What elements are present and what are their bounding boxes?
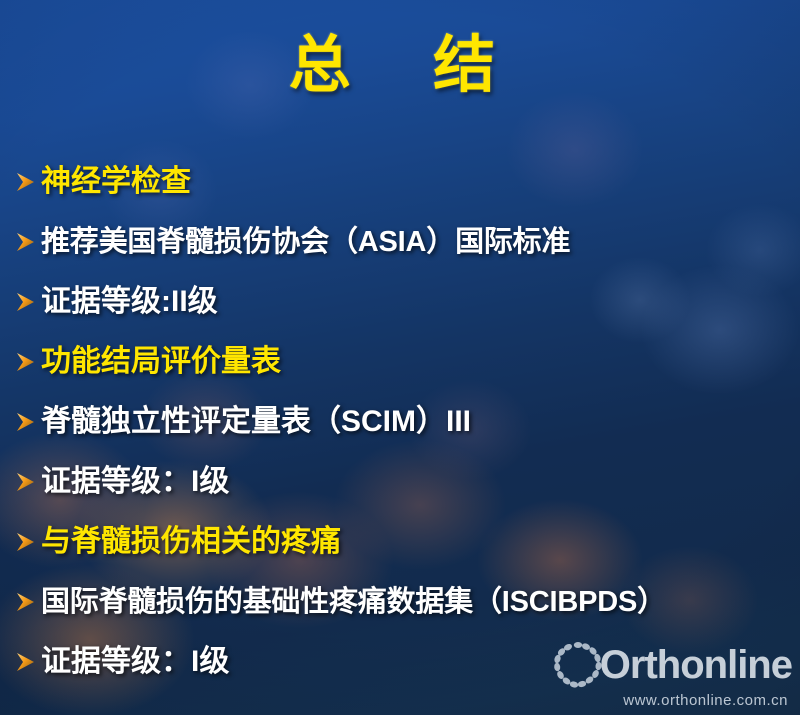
chevron-arrow-bullet-icon (14, 410, 38, 434)
presentation-slide: 总 结 神经学检查 (0, 0, 800, 715)
orthonline-ring-icon (552, 639, 604, 691)
list-item-label: 推荐美国脊髓损伤协会（ASIA）国际标准 (41, 228, 570, 257)
list-item: 证据等级：I级 (0, 452, 800, 512)
summary-bullet-list: 神经学检查 推荐美国脊髓损伤协会（ASIA）国际标准 (0, 152, 800, 692)
list-item-label: 功能结局评价量表 (41, 347, 281, 377)
list-item: 脊髓独立性评定量表（SCIM）III (0, 392, 800, 452)
watermark: Orthonline www.orthonline.com.cn (552, 639, 792, 709)
list-item-label: 与脊髓损伤相关的疼痛 (41, 527, 341, 557)
chevron-arrow-bullet-icon (14, 350, 38, 374)
list-item-label: 脊髓独立性评定量表（SCIM）III (41, 407, 471, 437)
chevron-arrow-bullet-icon (14, 530, 38, 554)
list-item-label: 证据等级：I级 (41, 467, 229, 497)
watermark-logo: Orthonline (552, 639, 792, 691)
watermark-brand: Orthonline (600, 645, 792, 685)
chevron-arrow-bullet-icon (14, 650, 38, 674)
chevron-arrow-bullet-icon (14, 230, 38, 254)
list-item-label: 国际脊髓损伤的基础性疼痛数据集（ISCIBPDS） (41, 588, 666, 617)
list-item-label: 证据等级：I级 (41, 647, 229, 677)
list-item: 证据等级:II级 (0, 272, 800, 332)
list-item: 国际脊髓损伤的基础性疼痛数据集（ISCIBPDS） (0, 572, 800, 632)
chevron-arrow-bullet-icon (14, 590, 38, 614)
chevron-arrow-bullet-icon (14, 290, 38, 314)
chevron-arrow-bullet-icon (14, 470, 38, 494)
list-item: 与脊髓损伤相关的疼痛 (0, 512, 800, 572)
list-item: 推荐美国脊髓损伤协会（ASIA）国际标准 (0, 212, 800, 272)
page-title: 总 结 (0, 14, 800, 104)
list-item-label: 证据等级:II级 (41, 287, 218, 317)
list-item: 功能结局评价量表 (0, 332, 800, 392)
watermark-url: www.orthonline.com.cn (623, 692, 788, 709)
list-item-label: 神经学检查 (41, 167, 191, 197)
list-item: 神经学检查 (0, 152, 800, 212)
chevron-arrow-bullet-icon (14, 170, 38, 194)
